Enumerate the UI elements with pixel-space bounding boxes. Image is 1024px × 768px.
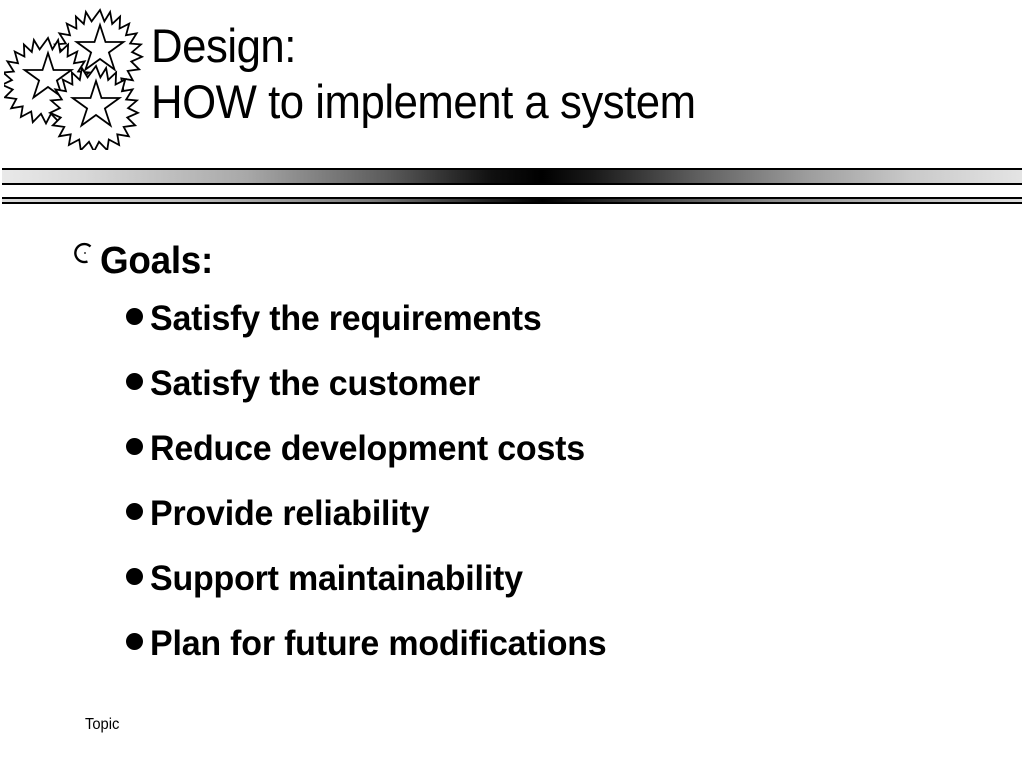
- list-item-label: Plan for future modifications: [150, 619, 607, 667]
- list-item: Plan for future modifications: [0, 619, 1024, 684]
- list-item: Satisfy the requirements: [0, 294, 1024, 359]
- gradient-rule-thick: [2, 168, 1022, 185]
- gradient-rule-thin: [2, 197, 1022, 204]
- filled-circle-bullet-icon: [126, 294, 150, 325]
- list-item-label: Reduce development costs: [150, 424, 585, 472]
- slide-canvas: Design: HOW to implement a system Goals:…: [0, 0, 1024, 768]
- title-line-2: HOW to implement a system: [151, 74, 951, 130]
- filled-circle-bullet-icon: [126, 424, 150, 455]
- list-item-goals-label: Goals:: [100, 238, 213, 284]
- list-item-label: Satisfy the requirements: [150, 294, 542, 342]
- list-item-label: Provide reliability: [150, 489, 429, 537]
- list-item: Support maintainability: [0, 554, 1024, 619]
- gradient-rule: [0, 168, 1024, 208]
- footer-topic-label: Topic: [85, 715, 119, 735]
- slide-title: Design: HOW to implement a system: [151, 18, 1011, 130]
- logo-svg: [4, 4, 144, 150]
- filled-circle-bullet-icon: [126, 489, 150, 520]
- list-item-goals: Goals:: [0, 238, 1024, 294]
- list-item: Reduce development costs: [0, 424, 1024, 489]
- list-item-label: Satisfy the customer: [150, 359, 480, 407]
- title-line-1: Design:: [151, 18, 951, 74]
- filled-circle-bullet-icon: [126, 619, 150, 650]
- list-item: Satisfy the customer: [0, 359, 1024, 424]
- list-item-label: Support maintainability: [150, 554, 523, 602]
- filled-circle-bullet-icon: [126, 554, 150, 585]
- open-arc-bullet-icon: [70, 238, 100, 267]
- three-overlapping-sunburst-stars-logo: [4, 4, 144, 150]
- list-item: Provide reliability: [0, 489, 1024, 554]
- filled-circle-bullet-icon: [126, 359, 150, 390]
- slide-body: Goals: Satisfy the requirements Satisfy …: [0, 238, 1024, 684]
